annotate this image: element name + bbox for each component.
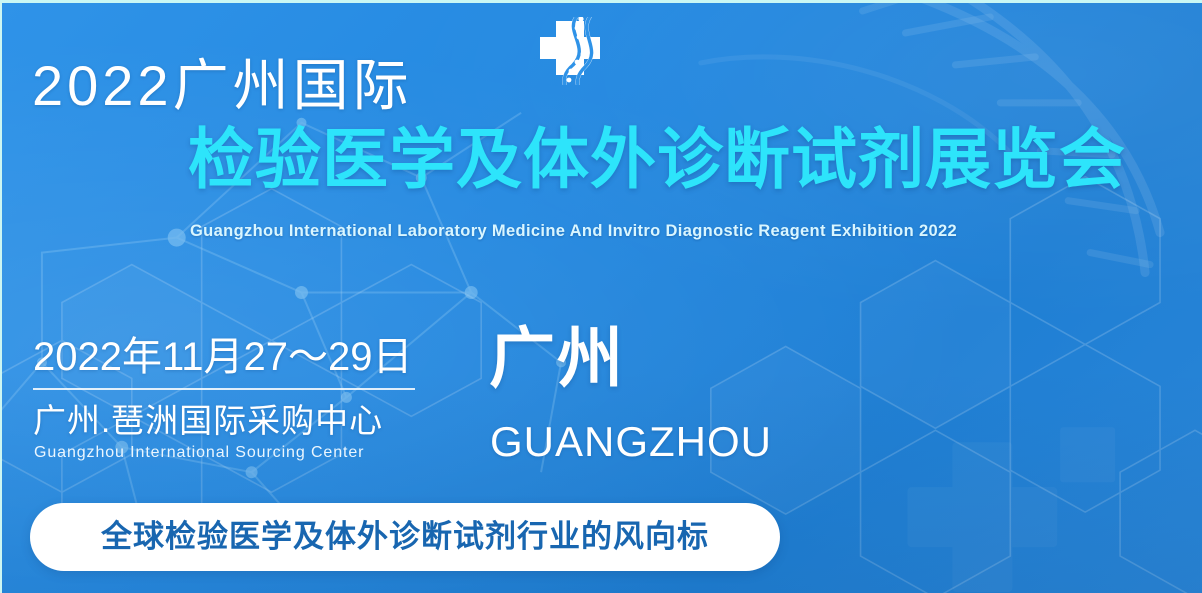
slogan-text: 全球检验医学及体外诊断试剂行业的风向标 <box>101 519 709 555</box>
slogan-pill: 全球检验医学及体外诊断试剂行业的风向标 <box>30 503 780 571</box>
event-date: 2022年11月27～29日 <box>33 333 413 381</box>
city-name-chinese: 广州 <box>489 320 625 396</box>
city-name-english: GUANGZHOU <box>490 417 772 467</box>
venue-name-english: Guangzhou International Sourcing Center <box>34 443 364 463</box>
headline-english-subtitle: Guangzhou International Laboratory Medic… <box>190 221 1190 241</box>
headline-line-2: 检验医学及体外诊断试剂展览会 <box>188 121 1126 197</box>
headline-line-1: 2022广州国际 <box>32 55 413 117</box>
exhibition-banner: 2022广州国际 检验医学及体外诊断试剂展览会 Guangzhou Intern… <box>0 0 1202 593</box>
venue-name-chinese: 广州.琶洲国际采购中心 <box>33 401 383 441</box>
medical-cross-dna-icon <box>521 17 617 85</box>
info-divider <box>33 388 415 390</box>
